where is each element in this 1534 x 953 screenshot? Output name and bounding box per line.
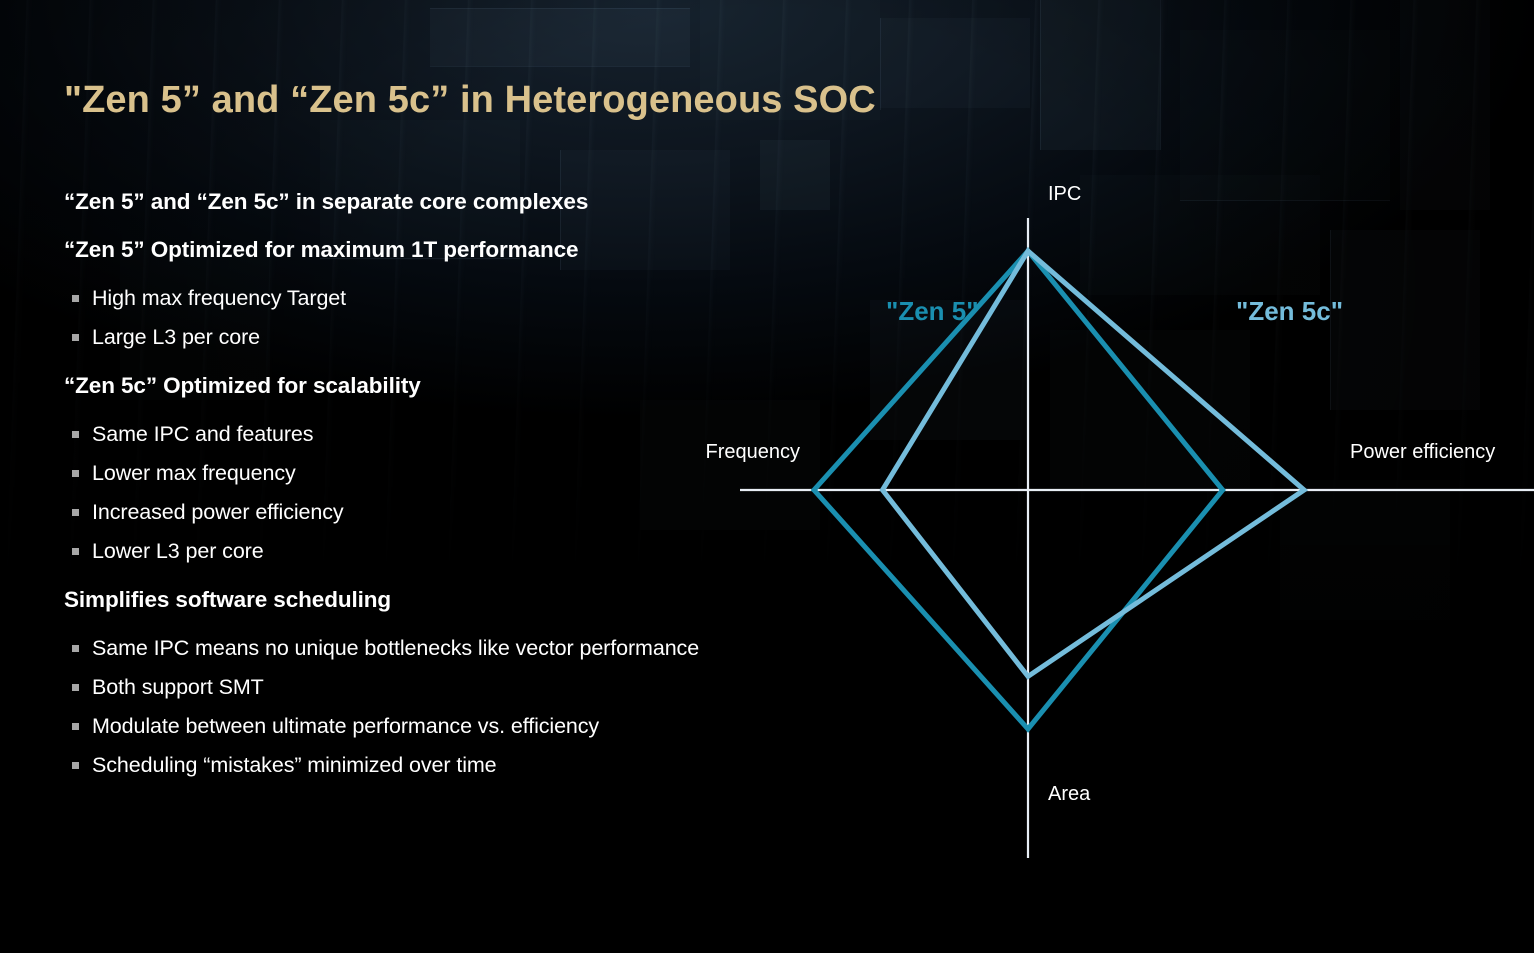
bullet-item-8: Lower L3 per core xyxy=(64,537,764,566)
series-label-zen5: "Zen 5" xyxy=(886,296,979,326)
bullet-square-icon xyxy=(72,645,79,652)
bullet-text: Lower L3 per core xyxy=(92,539,264,563)
bullet-text: Same IPC means no unique bottlenecks lik… xyxy=(92,636,699,660)
bullet-text: Increased power efficiency xyxy=(92,500,344,524)
bullet-item-13: Scheduling “mistakes” minimized over tim… xyxy=(64,751,764,780)
bullet-text: Large L3 per core xyxy=(92,325,260,349)
bullet-item-10: Same IPC means no unique bottlenecks lik… xyxy=(64,634,764,663)
bullet-text: Modulate between ultimate performance vs… xyxy=(92,714,599,738)
bullet-text: “Zen 5” and “Zen 5c” in separate core co… xyxy=(64,189,588,214)
bullet-item-3: Large L3 per core xyxy=(64,323,764,352)
bullet-square-icon xyxy=(72,548,79,555)
axis-label-power-efficiency: Power efficiency xyxy=(1350,441,1495,463)
bullet-square-icon xyxy=(72,295,79,302)
bullet-item-4: “Zen 5c” Optimized for scalability xyxy=(64,362,764,410)
bullet-item-6: Lower max frequency xyxy=(64,459,764,488)
radar-chart: IPC Power efficiency Area Frequency "Zen… xyxy=(660,160,1534,880)
series-label-zen5c: "Zen 5c" xyxy=(1236,296,1343,326)
bullet-item-9: Simplifies software scheduling xyxy=(64,576,764,624)
bullet-square-icon xyxy=(72,431,79,438)
axis-label-frequency: Frequency xyxy=(706,441,801,463)
axis-label-ipc: IPC xyxy=(1048,183,1081,205)
radar-chart-svg: IPC Power efficiency Area Frequency "Zen… xyxy=(660,160,1534,880)
bullet-item-2: High max frequency Target xyxy=(64,284,764,313)
bullet-item-11: Both support SMT xyxy=(64,673,764,702)
bullet-item-0: “Zen 5” and “Zen 5c” in separate core co… xyxy=(64,178,764,226)
bullet-square-icon xyxy=(72,470,79,477)
bullet-text: Same IPC and features xyxy=(92,422,313,446)
axis-label-area: Area xyxy=(1048,783,1091,805)
bullet-square-icon xyxy=(72,334,79,341)
bullet-text: Scheduling “mistakes” minimized over tim… xyxy=(92,753,497,777)
bullet-text: “Zen 5c” Optimized for scalability xyxy=(64,373,421,398)
bullet-square-icon xyxy=(72,723,79,730)
bullet-item-1: “Zen 5” Optimized for maximum 1T perform… xyxy=(64,226,764,274)
bullet-text: “Zen 5” Optimized for maximum 1T perform… xyxy=(64,237,578,262)
bullet-item-5: Same IPC and features xyxy=(64,420,764,449)
bullet-text: Lower max frequency xyxy=(92,461,296,485)
bullet-list: “Zen 5” and “Zen 5c” in separate core co… xyxy=(64,178,764,790)
bullet-text: Simplifies software scheduling xyxy=(64,587,391,612)
bullet-text: High max frequency Target xyxy=(92,286,346,310)
slide-title: "Zen 5” and “Zen 5c” in Heterogeneous SO… xyxy=(64,79,876,122)
bullet-square-icon xyxy=(72,762,79,769)
bullet-square-icon xyxy=(72,509,79,516)
bullet-item-7: Increased power efficiency xyxy=(64,498,764,527)
bullet-item-12: Modulate between ultimate performance vs… xyxy=(64,712,764,741)
bullet-text: Both support SMT xyxy=(92,675,264,699)
bullet-square-icon xyxy=(72,684,79,691)
